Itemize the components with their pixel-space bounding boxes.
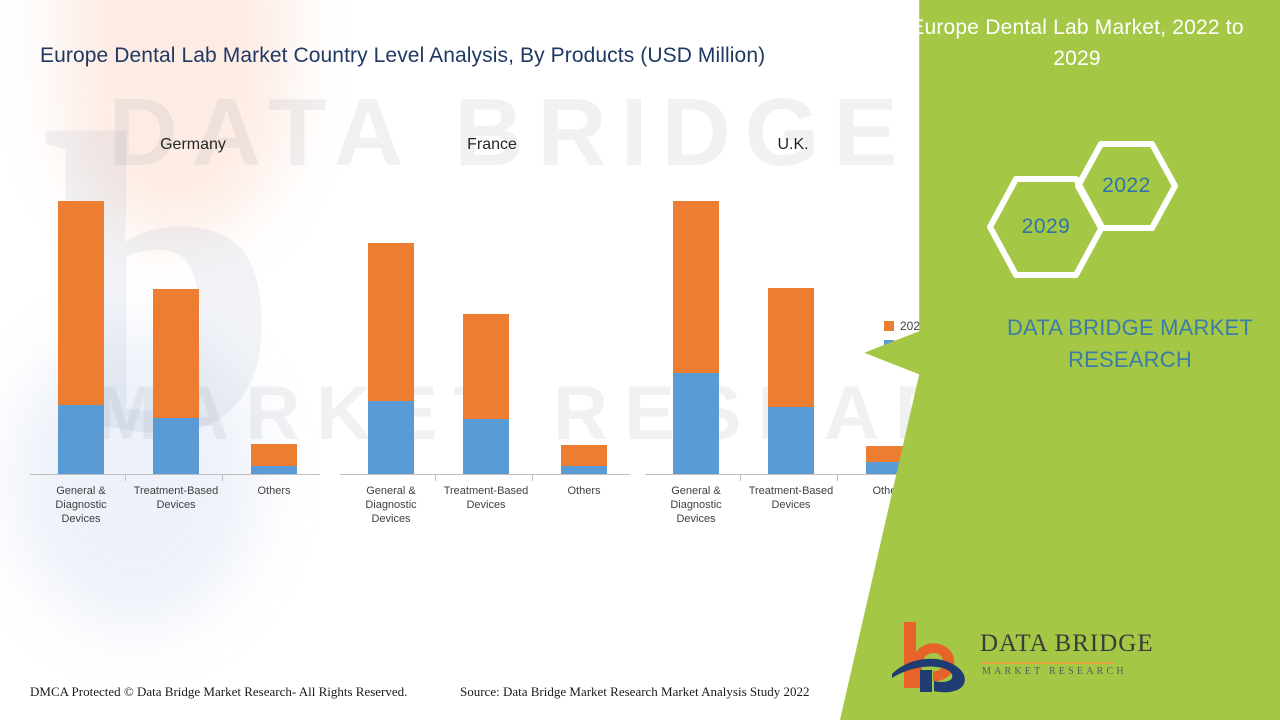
hexagon-badges: 2029 2022	[978, 140, 1193, 275]
bar-segment-2029	[153, 289, 199, 418]
dbmr-logo-mark-icon	[890, 618, 976, 696]
axis-tick-france-2	[532, 474, 533, 481]
category-label-germany-general: General & Diagnostic Devices	[38, 484, 124, 526]
bar-germany-general	[58, 201, 104, 474]
group-title-uk: U.K.	[718, 136, 868, 154]
group-title-germany: Germany	[118, 136, 268, 154]
category-label-france-others: Others	[541, 484, 627, 498]
axis-tick-uk-2	[837, 474, 838, 481]
dbmr-logo-wordmark: DATA BRIDGE	[980, 630, 1154, 658]
panel-brand-text: DATA BRIDGE MARKET RESEARCH	[990, 312, 1270, 376]
bar-segment-2021	[768, 407, 814, 474]
bar-segment-2029	[561, 445, 607, 466]
axis-tick-germany-2	[222, 474, 223, 481]
bar-segment-2029	[673, 201, 719, 373]
bar-segment-2029	[463, 314, 509, 419]
bar-segment-2029	[368, 243, 414, 401]
footer-source: Source: Data Bridge Market Research Mark…	[460, 684, 809, 700]
dbmr-logo: DATA BRIDGE MARKET RESEARCH	[890, 618, 1120, 696]
bar-uk-general	[673, 201, 719, 474]
bar-segment-2021	[561, 466, 607, 474]
bar-segment-2021	[251, 466, 297, 474]
category-label-uk-treatment: Treatment-Based Devices	[748, 484, 834, 512]
category-label-germany-others: Others	[231, 484, 317, 498]
axis-tick-uk-1	[740, 474, 741, 481]
panel-title: Europe Dental Lab Market, 2022 to 2029	[892, 12, 1262, 74]
infographic-root: b DATA BRIDGE MARKET RESEARCH Europe Den…	[0, 0, 1280, 720]
axis-line-germany	[30, 474, 320, 475]
hexagon-2022-label: 2022	[1102, 174, 1151, 198]
axis-tick-france-1	[435, 474, 436, 481]
category-label-uk-general: General & Diagnostic Devices	[653, 484, 739, 526]
axis-line-uk	[645, 474, 935, 475]
category-label-france-general: General & Diagnostic Devices	[348, 484, 434, 526]
bar-segment-2021	[463, 419, 509, 474]
legend-swatch-2029	[884, 321, 894, 331]
hexagon-2029-label: 2029	[1022, 215, 1071, 239]
category-label-germany-treatment: Treatment-Based Devices	[133, 484, 219, 512]
category-label-france-treatment: Treatment-Based Devices	[443, 484, 529, 512]
bar-segment-2029	[58, 201, 104, 405]
bar-france-general	[368, 243, 414, 474]
bar-uk-treatment	[768, 288, 814, 474]
footer-copyright: DMCA Protected © Data Bridge Market Rese…	[30, 684, 407, 700]
bar-segment-2029	[251, 444, 297, 466]
bar-segment-2021	[368, 401, 414, 474]
group-title-france: France	[417, 136, 567, 154]
bar-france-others	[561, 445, 607, 474]
bar-germany-treatment	[153, 289, 199, 474]
bar-segment-2021	[58, 405, 104, 474]
bar-france-treatment	[463, 314, 509, 474]
dbmr-logo-subtext: MARKET RESEARCH	[982, 666, 1127, 677]
axis-line-france	[340, 474, 630, 475]
hexagon-2022: 2022	[1074, 140, 1179, 232]
bar-segment-2029	[768, 288, 814, 407]
dbmr-logo-rule	[982, 662, 1114, 664]
bar-germany-others	[251, 444, 297, 474]
bar-segment-2021	[673, 373, 719, 474]
chart-plot-area: Germany France U.K. General & Diagnostic…	[0, 0, 960, 560]
axis-tick-germany-1	[125, 474, 126, 481]
bar-segment-2021	[153, 418, 199, 474]
